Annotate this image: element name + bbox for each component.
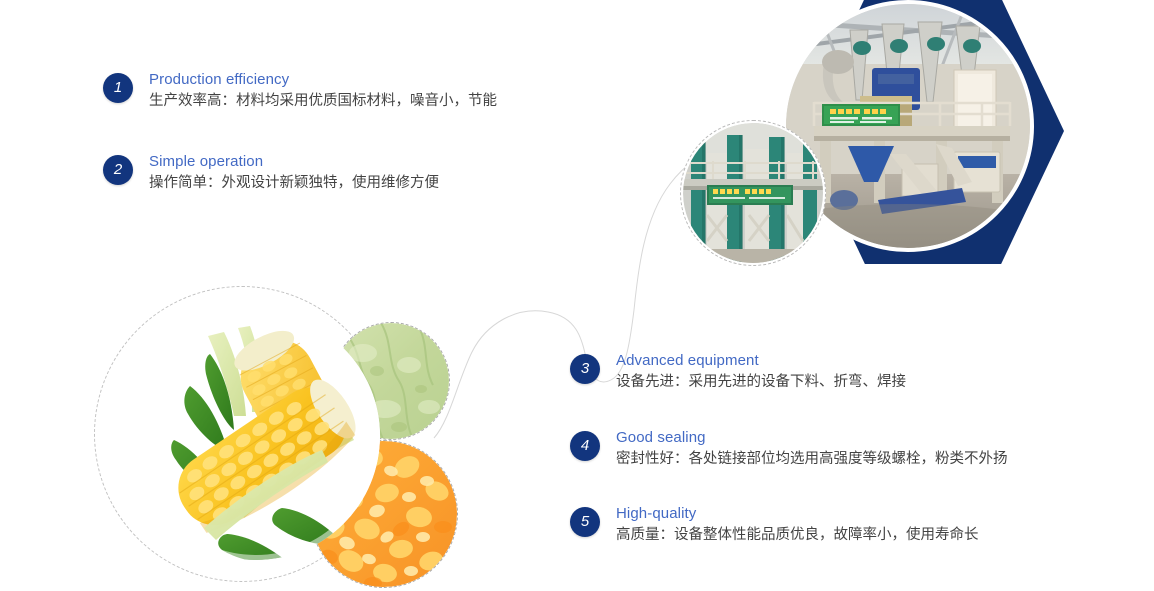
feature-title-4: Good sealing [616, 428, 1008, 448]
corn-photo-group [92, 282, 492, 591]
feature-desc-1: 生产效率高：材料均采用优质国标材料，噪音小，节能 [149, 91, 497, 112]
feature-item-1: 1 Production efficiency 生产效率高：材料均采用优质国标材… [103, 73, 497, 112]
feature-item-3: 3 Advanced equipment 设备先进：采用先进的设备下料、折弯、焊… [570, 354, 906, 393]
feature-number-badge-2: 2 [103, 155, 133, 185]
feature-number-badge-1: 1 [103, 73, 133, 103]
feature-title-5: High-quality [616, 504, 979, 524]
feature-desc-3: 设备先进：采用先进的设备下料、折弯、焊接 [616, 372, 906, 393]
feature-text-1: Production efficiency 生产效率高：材料均采用优质国标材料，… [149, 70, 497, 112]
feature-desc-4: 密封性好：各处链接部位均选用高强度等级螺栓，粉类不外扬 [616, 449, 1008, 470]
feature-item-4: 4 Good sealing 密封性好：各处链接部位均选用高强度等级螺栓，粉类不… [570, 431, 1008, 470]
feature-number-badge-5: 5 [570, 507, 600, 537]
feature-title-2: Simple operation [149, 152, 439, 172]
feature-text-5: High-quality 高质量：设备整体性能品质优良，故障率小，使用寿命长 [616, 504, 979, 546]
feature-item-5: 5 High-quality 高质量：设备整体性能品质优良，故障率小，使用寿命长 [570, 507, 979, 546]
feature-text-4: Good sealing 密封性好：各处链接部位均选用高强度等级螺栓，粉类不外扬 [616, 428, 1008, 470]
feature-desc-5: 高质量：设备整体性能品质优良，故障率小，使用寿命长 [616, 525, 979, 546]
feature-text-3: Advanced equipment 设备先进：采用先进的设备下料、折弯、焊接 [616, 351, 906, 393]
feature-desc-2: 操作简单：外观设计新颖独特，使用维修方便 [149, 173, 439, 194]
feature-number-badge-3: 3 [570, 354, 600, 384]
feature-title-3: Advanced equipment [616, 351, 906, 371]
factory-photo-group [672, 0, 1154, 274]
feature-highlights-page: 1 Production efficiency 生产效率高：材料均采用优质国标材… [0, 0, 1154, 591]
feature-item-2: 2 Simple operation 操作简单：外观设计新颖独特，使用维修方便 [103, 155, 439, 194]
feature-number-badge-4: 4 [570, 431, 600, 461]
fresh-corn-cob-photo [132, 312, 380, 560]
green-milling-machinery-photo [680, 120, 826, 266]
feature-text-2: Simple operation 操作简单：外观设计新颖独特，使用维修方便 [149, 152, 439, 194]
feature-title-1: Production efficiency [149, 70, 497, 90]
